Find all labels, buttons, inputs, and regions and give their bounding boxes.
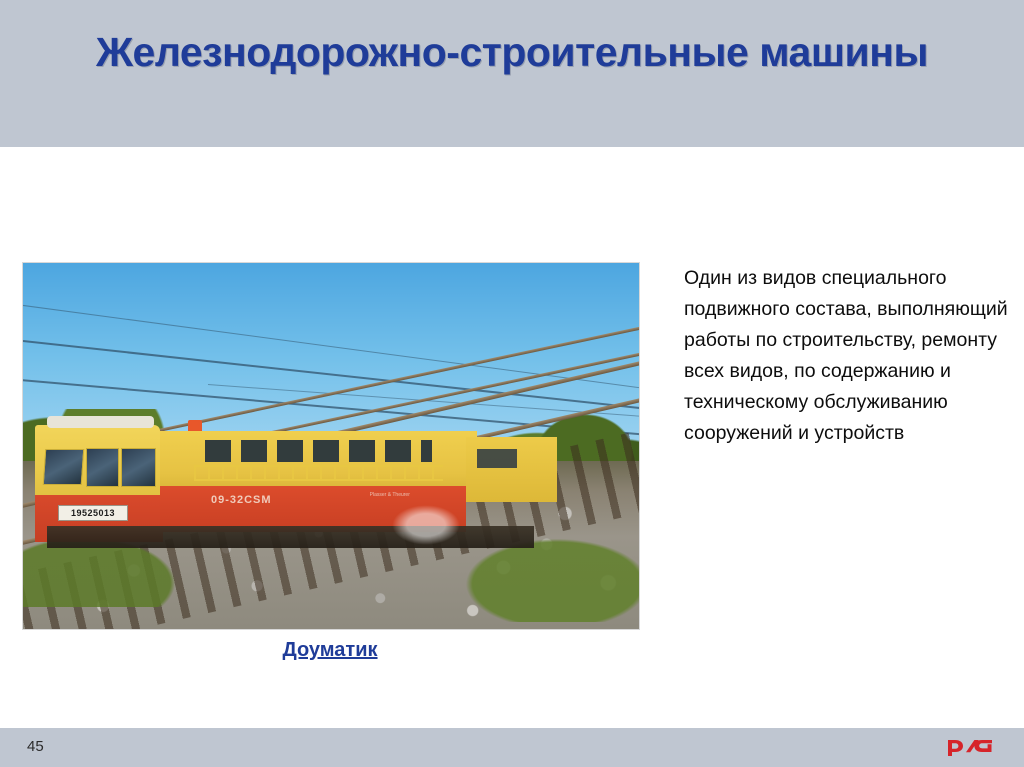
machine-rear-window [477, 449, 517, 467]
machine-small-marking: Plasser & Theurer [370, 492, 410, 498]
body-paragraph: Один из видов специального подвижного со… [684, 263, 1020, 449]
machine-railing [194, 465, 443, 481]
machine-photo[interactable]: 19525013 09-32CSM Plasser & Theurer [22, 262, 640, 630]
machine-rear-section [466, 437, 557, 502]
page-number: 45 [27, 738, 44, 755]
page-title: Железнодорожно-строительные машины [60, 28, 964, 77]
cab-window [86, 448, 119, 487]
footer-band [0, 728, 1024, 767]
roof-beacon [188, 420, 202, 431]
dust-cloud [392, 505, 460, 545]
caption-link-doumatic[interactable]: Доуматик [282, 639, 377, 661]
track-machine: 19525013 09-32CSM Plasser & Theurer [35, 409, 602, 563]
photo-caption: Доуматик [22, 639, 638, 662]
machine-number-plate: 19525013 [58, 505, 128, 521]
cab-roof [47, 416, 155, 428]
cab-window [43, 449, 84, 485]
rzd-logo-icon [944, 733, 1006, 759]
slide-canvas: Железнодорожно-строительные машины [0, 0, 1024, 767]
cab-window [121, 448, 156, 487]
machine-model-marking: 09-32CSM [211, 494, 272, 506]
photo-content: 19525013 09-32CSM Plasser & Theurer [23, 263, 639, 629]
machine-side-windows [205, 440, 432, 462]
machine-underframe [47, 526, 534, 548]
